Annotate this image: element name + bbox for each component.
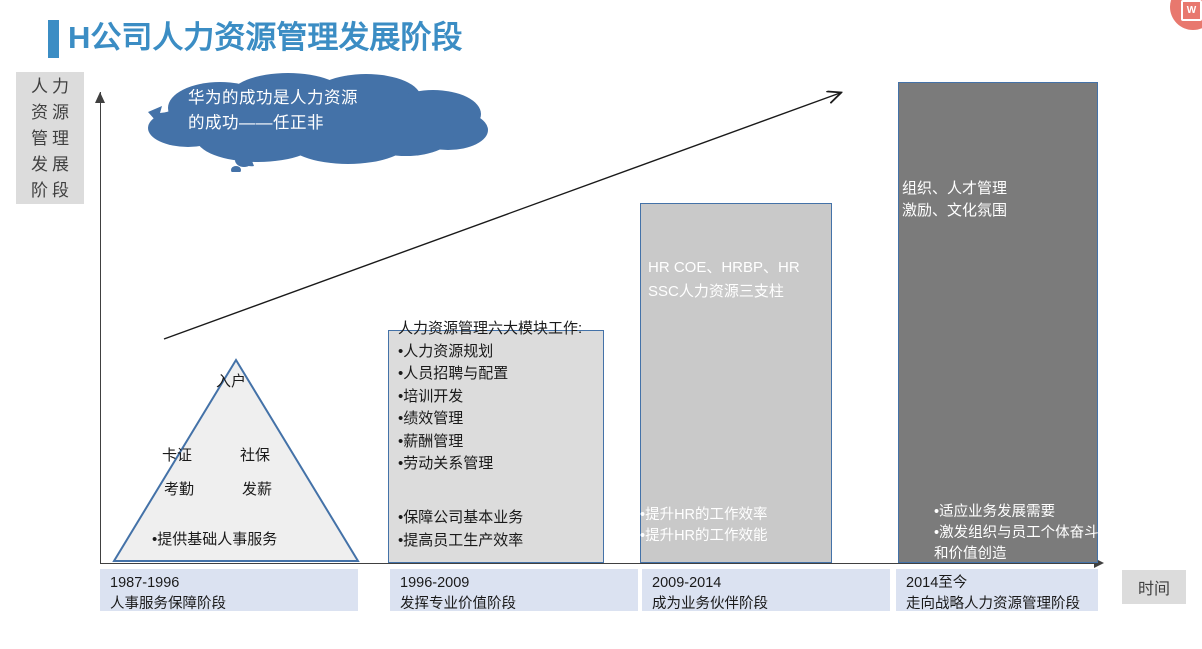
stage-2-bottom-text: •保障公司基本业务 •提高员工生产效率	[398, 507, 603, 552]
y-axis-char: 源	[52, 100, 69, 125]
badge-letter: W	[1181, 0, 1202, 21]
y-axis-arrow	[100, 92, 101, 564]
stage-1-bottom-text: •提供基础人事服务	[152, 528, 277, 549]
y-axis-char: 理	[52, 126, 69, 151]
y-axis-char: 展	[52, 152, 69, 177]
quote-text: 华为的成功是人力资源 的成功——任正非	[188, 86, 478, 136]
timeline-years-2: 1996-2009	[400, 573, 638, 594]
y-axis-char: 资	[31, 100, 48, 125]
y-axis-char: 力	[52, 74, 69, 99]
quote-callout: 华为的成功是人力资源 的成功——任正非	[148, 72, 493, 172]
stage-1-labels: 入户 卡证 社保 考勤 发薪 •提供基础人事服务	[112, 358, 360, 563]
stage-1-label-faxin: 发薪	[242, 478, 272, 499]
y-axis-char: 人	[31, 74, 48, 99]
y-axis-label-box: 人 力 资 源 管 理 发 展 阶 段	[16, 72, 84, 204]
timeline-name-3: 成为业务伙伴阶段	[652, 594, 890, 615]
y-axis-label-grid: 人 力 资 源 管 理 发 展 阶 段	[31, 74, 69, 203]
timeline-label-1[interactable]: 1987-1996 人事服务保障阶段	[100, 569, 358, 611]
timeline-years-1: 1987-1996	[110, 573, 358, 594]
quote-line-1: 华为的成功是人力资源	[188, 86, 478, 111]
timeline-label-4[interactable]: 2014至今 走向战略人力资源管理阶段	[896, 569, 1098, 611]
stage-3-bottom-text: •提升HR的工作效率 •提升HR的工作效能	[640, 505, 830, 547]
quote-line-2: 的成功——任正非	[188, 111, 478, 136]
stage-4-bottom-text: •适应业务发展需要 •激发组织与员工个体奋斗和价值创造	[934, 502, 1099, 565]
title-accent-bar	[48, 20, 59, 58]
timeline-years-3: 2009-2014	[652, 573, 890, 594]
timeline-years-4: 2014至今	[906, 573, 1098, 594]
stage-1-label-kazheng: 卡证	[162, 444, 192, 465]
stage-2-top-text: 人力资源管理六大模块工作: •人力资源规划 •人员招聘与配置 •培训开发 •绩效…	[398, 318, 603, 476]
word-document-badge-icon[interactable]: W	[1170, 0, 1202, 30]
y-axis-char: 管	[31, 126, 48, 151]
stage-4-top-text: 组织、人才管理 激励、文化氛围	[902, 178, 1092, 222]
y-axis-char: 段	[52, 178, 69, 203]
timeline-label-2[interactable]: 1996-2009 发挥专业价值阶段	[390, 569, 638, 611]
y-axis-char: 阶	[31, 178, 48, 203]
timeline-name-4: 走向战略人力资源管理阶段	[906, 594, 1098, 615]
stage-4-bar[interactable]	[898, 82, 1098, 563]
timeline-name-2: 发挥专业价值阶段	[400, 594, 638, 615]
stage-3-top-text: HR COE、HRBP、HR SSC人力资源三支柱	[648, 256, 828, 304]
stage-1-label-shebao: 社保	[240, 444, 270, 465]
page-title: H公司人力资源管理发展阶段	[68, 16, 462, 60]
x-axis-label-box: 时间	[1122, 570, 1186, 604]
stage-1-label-kaoqin: 考勤	[164, 478, 194, 499]
slide-canvas: H公司人力资源管理发展阶段 人 力 资 源 管 理 发 展 阶 段	[0, 0, 1202, 649]
y-axis-char: 发	[31, 152, 48, 177]
timeline-name-1: 人事服务保障阶段	[110, 594, 358, 615]
timeline-label-3[interactable]: 2009-2014 成为业务伙伴阶段	[642, 569, 890, 611]
stage-1-label-ruhu: 入户	[216, 370, 246, 391]
